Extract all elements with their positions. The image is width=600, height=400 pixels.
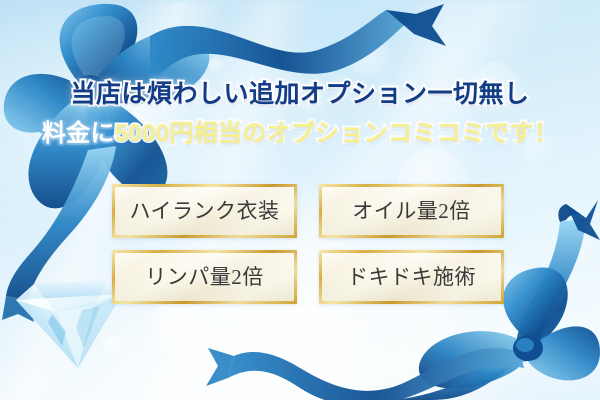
feature-box[interactable]: ドキドキ施術	[319, 250, 504, 304]
feature-box-label: ハイランク衣装	[129, 201, 279, 222]
feature-box-label: ドキドキ施術	[347, 267, 476, 288]
promo-banner: 当店は煩わしい追加オプション一切無し 料金に5000円相当のオプションコミコミで…	[0, 0, 600, 400]
feature-box-label: リンパ量2倍	[145, 267, 264, 288]
headline-line-2-highlight: 5000円相当のオプションコミコミです！	[115, 120, 558, 147]
headline-line-2-prefix: 料金に	[42, 120, 115, 147]
feature-box[interactable]: ハイランク衣装	[112, 184, 297, 238]
feature-box-grid: ハイランク衣装 オイル量2倍 リンパ量2倍 ドキドキ施術	[112, 184, 504, 304]
feature-box[interactable]: オイル量2倍	[319, 184, 504, 238]
headline-line-1: 当店は煩わしい追加オプション一切無し	[0, 82, 600, 107]
feature-box-label: オイル量2倍	[352, 201, 471, 222]
feature-box[interactable]: リンパ量2倍	[112, 250, 297, 304]
headline-block: 当店は煩わしい追加オプション一切無し 料金に5000円相当のオプションコミコミで…	[0, 82, 600, 146]
headline-line-2: 料金に5000円相当のオプションコミコミです！	[0, 122, 600, 146]
